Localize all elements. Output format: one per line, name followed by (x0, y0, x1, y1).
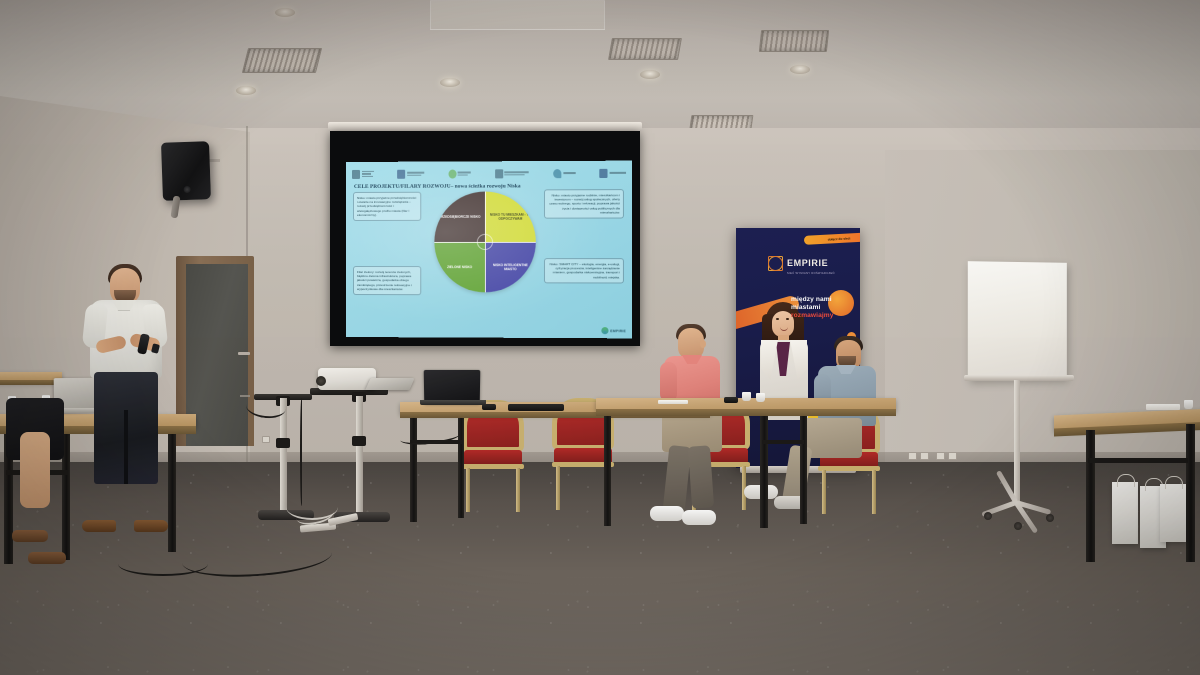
chair-leg (872, 470, 876, 514)
chair-leg (822, 470, 826, 514)
coffee-cup (1184, 400, 1193, 409)
flipchart-paper (968, 261, 1067, 381)
quadrant-live-rest: NISKO TU MIESZKAM - TU ODPOCZYWAM (485, 191, 536, 242)
partner-logo-mark-icon (448, 169, 456, 178)
door-handle-icon[interactable] (238, 352, 250, 355)
banner-top-pill-text: dołącz do sieci (804, 232, 860, 245)
slide-right-bottom-box: Nisko: SMART CITY – ekologia, energia, e… (544, 258, 624, 283)
banner-brand-subtitle: SIEĆ WYMIANY DOŚWIADCZEŃ (787, 272, 835, 275)
flipchart-base (980, 500, 1058, 518)
portrait-eye-right (786, 318, 789, 320)
laptop-black-base (420, 400, 486, 405)
person-leg (20, 432, 50, 508)
slide-right-top-box: Nisko: miasto przyjazne rodzinie, mieszk… (544, 189, 624, 219)
ceiling-shading (0, 0, 1200, 140)
laptop-black-screen (424, 370, 481, 404)
table-leg (1186, 424, 1195, 562)
microphone-on-table-icon[interactable] (724, 397, 738, 403)
paper-sheet (658, 400, 688, 404)
slide-green-box: Filar zielony: rozwój terenów zielonych,… (353, 266, 421, 296)
table-rail (1088, 458, 1188, 463)
logo-partner-6 (600, 168, 626, 177)
partner-logo-mark-icon (495, 169, 503, 178)
chair-seat-frame (462, 464, 524, 469)
coffee-cup (742, 392, 751, 401)
partner-logo-text (407, 172, 424, 176)
person-sneaker (682, 510, 716, 525)
partner-logo-mark-icon (397, 169, 405, 178)
banner-top-pill: dołącz do sieci (804, 232, 860, 245)
table-leg (168, 434, 176, 552)
logo-partner-2 (397, 169, 424, 178)
wall-socket-icon (262, 436, 270, 443)
keyboard[interactable] (508, 404, 564, 411)
logo-partner-4 (495, 169, 529, 178)
pillars-pie-diagram: PRZEDSIĘBIORCZE NISKO NISKO TU MIESZKAM … (434, 191, 535, 292)
flipchart-caster (1014, 522, 1022, 530)
portrait-eye-left (776, 318, 779, 320)
chair-leg (516, 468, 520, 512)
quadrant-smart-city: NISKO INTELIGENTNE MIASTO (485, 242, 536, 293)
stand-height-clamp[interactable] (276, 438, 290, 448)
person-sandal (12, 530, 48, 542)
banner-tagline-line2: miastami (791, 304, 859, 312)
coffee-cup (756, 393, 765, 402)
person-sandal (28, 552, 66, 564)
partner-logo-text (563, 172, 575, 173)
table-leg (1086, 430, 1095, 562)
partner-logo-mark-icon (352, 169, 360, 178)
stand-column (356, 396, 363, 512)
person-sneaker (650, 506, 684, 521)
floor-cable-long (118, 552, 208, 576)
presenter-shoe-left (82, 520, 116, 532)
slide-logo-row (352, 165, 626, 182)
screen-housing (328, 122, 642, 131)
partner-logo-text (610, 172, 626, 173)
banner-tagline-line3: rozmawiajmy (791, 312, 859, 320)
flipchart-caster (1046, 514, 1054, 522)
gift-bag (1112, 482, 1138, 544)
stand-height-clamp[interactable] (352, 436, 366, 446)
partner-logo-text (505, 171, 529, 175)
table-leg (800, 416, 807, 524)
projector-lens-icon (316, 376, 326, 386)
wall-socket-icon (908, 452, 917, 460)
chair-leg (466, 468, 470, 512)
partner-logo-mark-icon (553, 169, 561, 178)
banner-logo: EMPIRIE (766, 254, 828, 271)
conference-room-scene: CELE PROJEKTU/FILARY ROZWOJU– nowa ścież… (0, 0, 1200, 675)
pie-center-ring (477, 234, 493, 250)
table-leg (760, 416, 768, 528)
presenter-shoe-right (134, 520, 168, 532)
gift-bag (1160, 484, 1186, 542)
projected-slide: CELE PROJEKTU/FILARY ROZWOJU– nowa ścież… (346, 161, 632, 339)
quadrant-green: ZIELONE NISKO (434, 242, 485, 292)
banner-tagline-line1: między nami (791, 296, 859, 304)
suspended-ceiling (0, 0, 1200, 140)
logo-partner-1 (352, 169, 374, 178)
presenter-leg-split (124, 410, 128, 484)
person-leg (688, 445, 714, 508)
empirie-logo-icon (766, 254, 783, 271)
flipchart-pole (1014, 380, 1020, 505)
wall-socket-icon (948, 452, 957, 460)
logo-partner-5 (553, 168, 575, 177)
laptop-on-stand (365, 378, 414, 390)
banner-brand-text: EMPIRIE (787, 258, 828, 268)
slide-vision-box: Nisko: miasto przyjazne przedsiębiorczoś… (353, 192, 421, 222)
quadrant-entrepreneurial: PRZEDSIĘBIORCZE NISKO (434, 192, 485, 242)
cable (300, 398, 303, 506)
logo-partner-3 (448, 169, 471, 178)
flipchart-caster (984, 512, 992, 520)
table-leg (604, 416, 611, 526)
table-rail (762, 440, 804, 444)
slide-footer-logo-text: EMPIRIE (610, 329, 626, 333)
presenter-remote-icon[interactable] (482, 404, 496, 410)
table-edge (596, 409, 896, 416)
door-hinge (240, 395, 250, 397)
empirie-mark-icon (601, 327, 608, 334)
wall-speaker-icon (161, 141, 211, 201)
chair-seat-frame (818, 466, 880, 471)
slide-footer-logo: EMPIRIE (601, 327, 626, 334)
partner-logo-text (362, 171, 374, 177)
chair-leg (556, 466, 560, 510)
partner-logo-mark-icon (600, 168, 608, 177)
wall-socket-icon (936, 452, 945, 460)
person-arm (660, 362, 677, 402)
projection-screen: CELE PROJEKTU/FILARY ROZWOJU– nowa ścież… (330, 128, 640, 346)
wall-socket-icon (920, 452, 929, 460)
banner-tagline: między nami miastami rozmawiajmy (791, 296, 859, 320)
paper-sheet (1146, 404, 1180, 410)
partner-logo-text (458, 172, 471, 176)
speaker-driver (183, 186, 190, 193)
person-ear (700, 340, 706, 348)
